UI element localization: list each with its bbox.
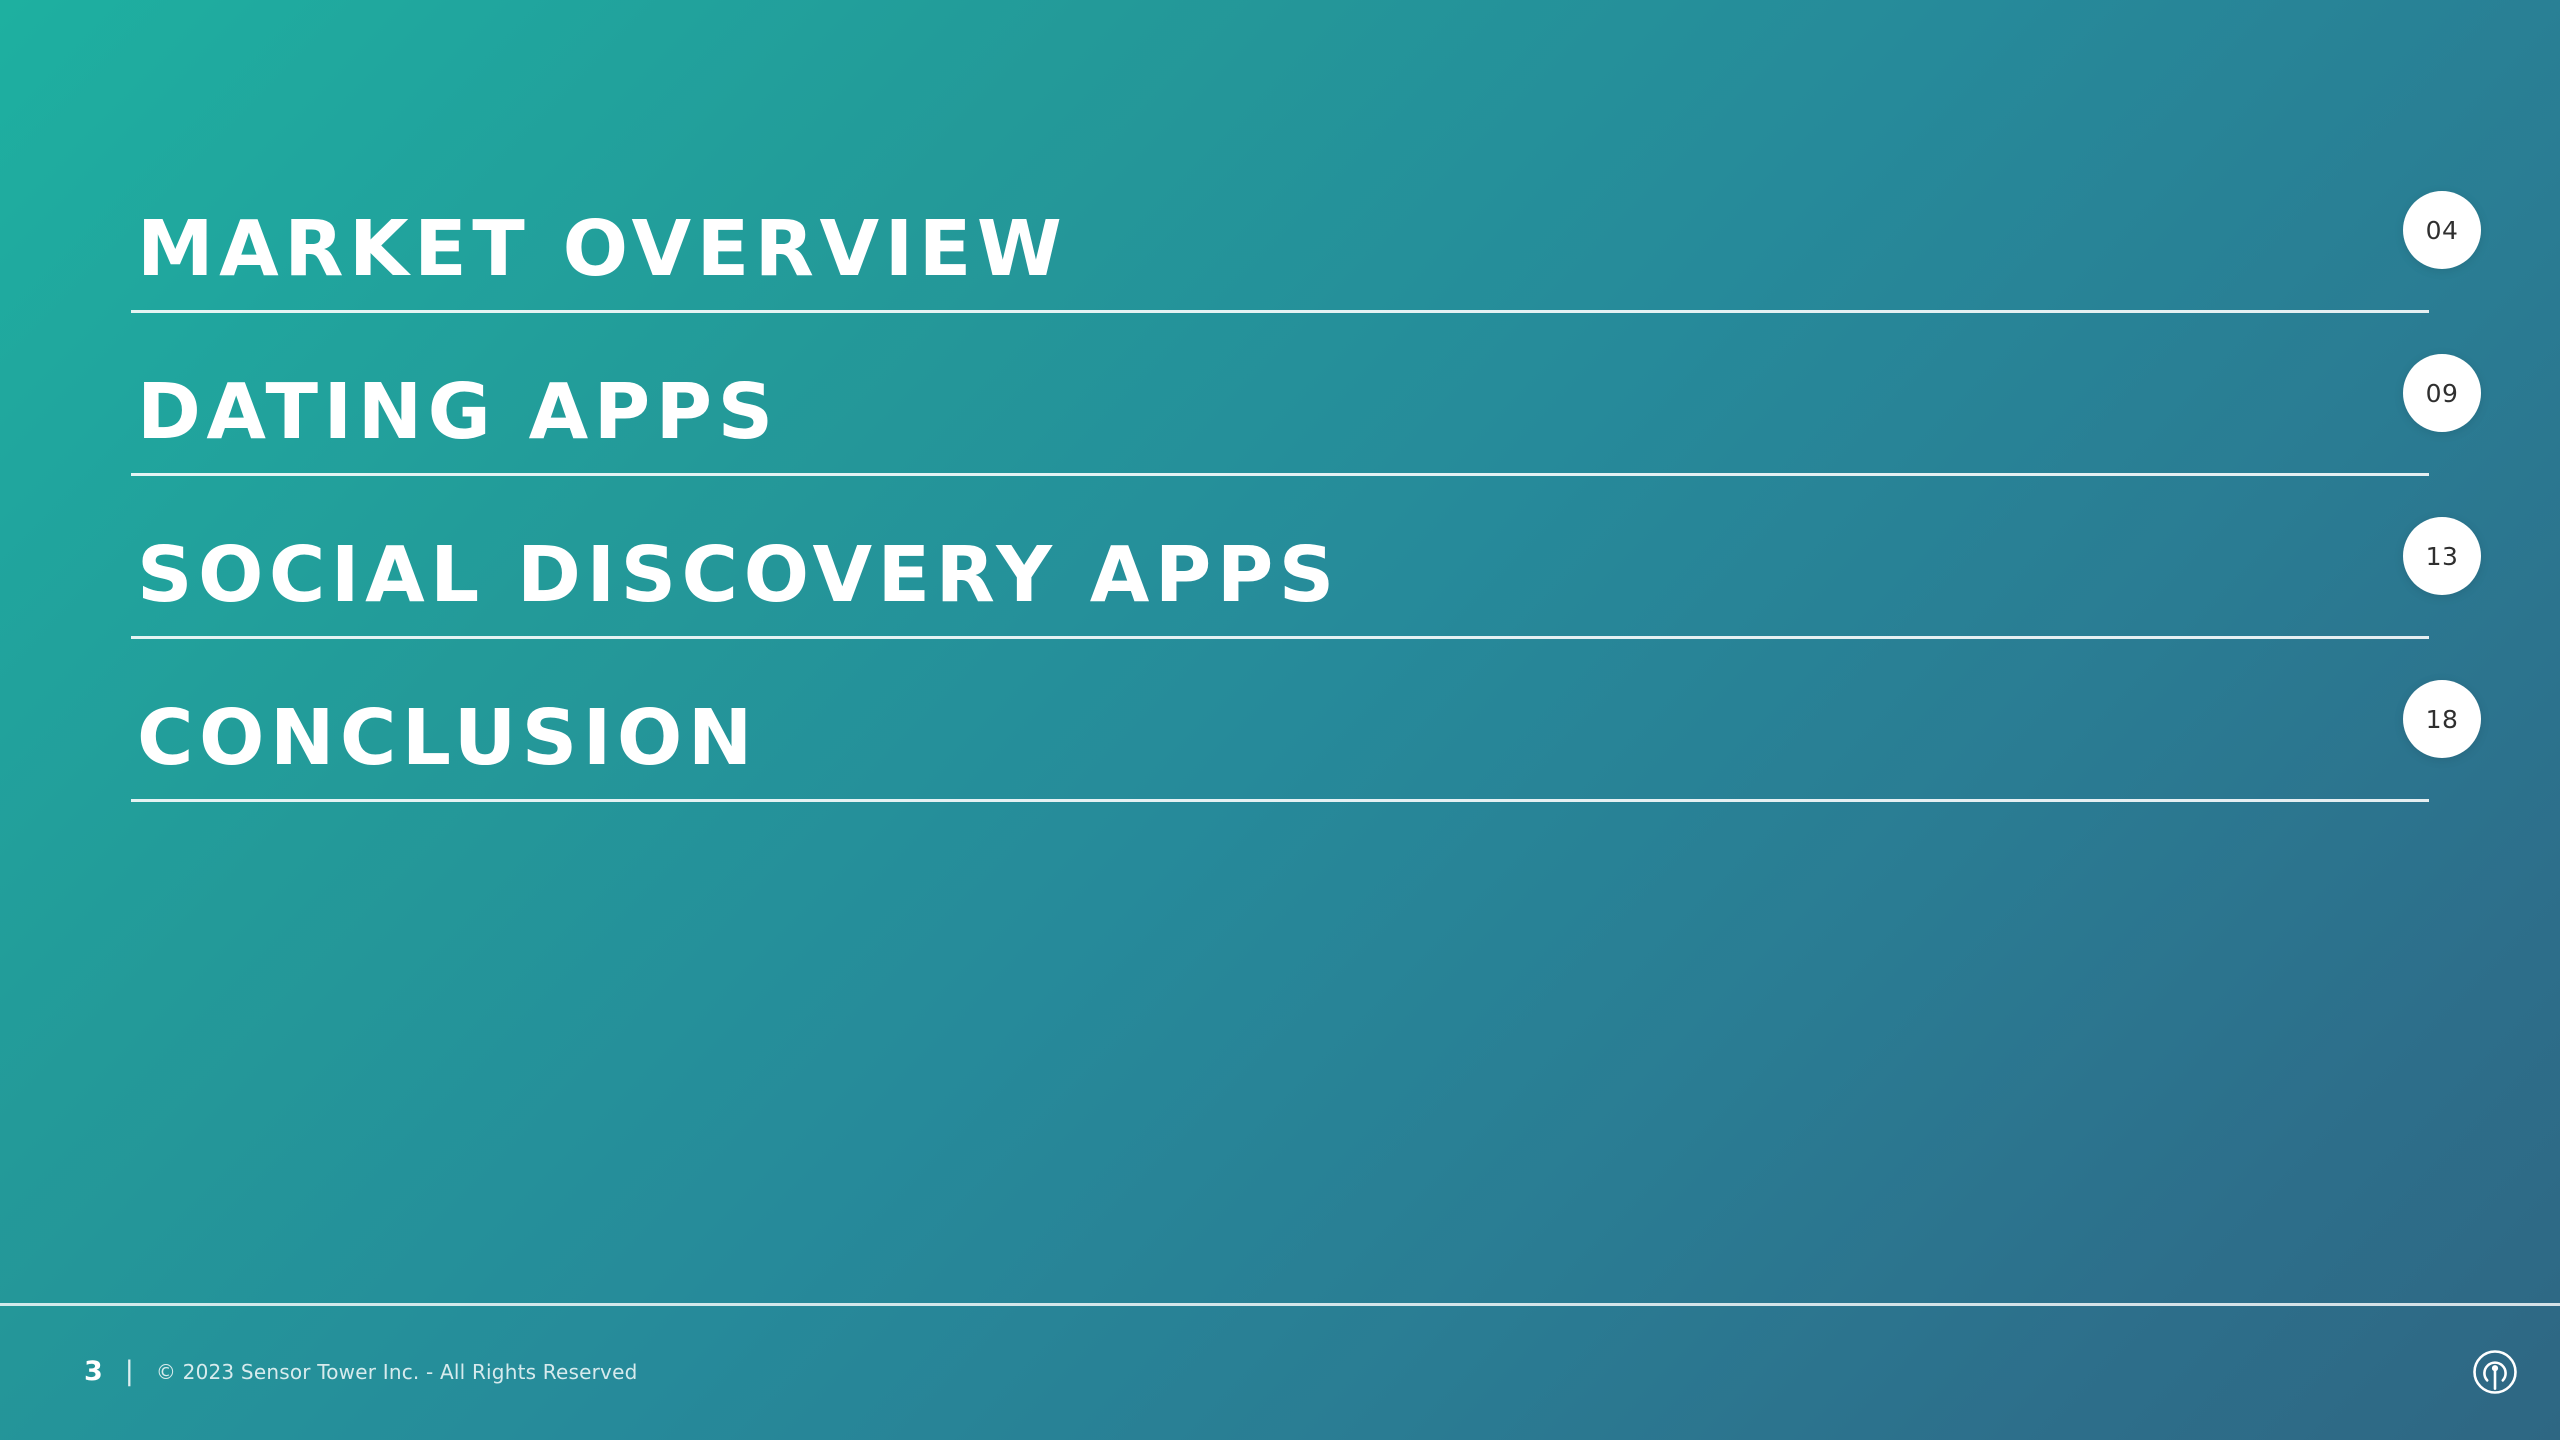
agenda-item-page-badge[interactable]: 09 bbox=[2403, 354, 2481, 432]
agenda-item-title: MARKET OVERVIEW bbox=[137, 211, 1067, 288]
footer-left-group: 3 | © 2023 Sensor Tower Inc. - All Right… bbox=[84, 1358, 637, 1385]
copyright-text: © 2023 Sensor Tower Inc. - All Rights Re… bbox=[156, 1362, 638, 1382]
agenda-item-page-badge[interactable]: 13 bbox=[2403, 517, 2481, 595]
agenda-item-page-badge[interactable]: 04 bbox=[2403, 191, 2481, 269]
presentation-slide: MARKET OVERVIEW 04 DATING APPS 09 SOCIAL… bbox=[0, 0, 2560, 1440]
agenda-item-title: DATING APPS bbox=[137, 374, 779, 451]
agenda-item-dating-apps[interactable]: DATING APPS 09 bbox=[131, 313, 2429, 476]
agenda-item-title: SOCIAL DISCOVERY APPS bbox=[137, 537, 1340, 614]
agenda-item-title: CONCLUSION bbox=[137, 700, 758, 777]
footer-separator: | bbox=[125, 1358, 134, 1385]
slide-footer: 3 | © 2023 Sensor Tower Inc. - All Right… bbox=[0, 1303, 2560, 1440]
sensor-tower-logo-icon bbox=[2468, 1345, 2522, 1399]
agenda-item-conclusion[interactable]: CONCLUSION 18 bbox=[131, 639, 2429, 802]
agenda-item-page-badge[interactable]: 18 bbox=[2403, 680, 2481, 758]
agenda-item-social-discovery-apps[interactable]: SOCIAL DISCOVERY APPS 13 bbox=[131, 476, 2429, 639]
agenda-item-market-overview[interactable]: MARKET OVERVIEW 04 bbox=[131, 150, 2429, 313]
agenda-list: MARKET OVERVIEW 04 DATING APPS 09 SOCIAL… bbox=[131, 150, 2429, 802]
page-number: 3 bbox=[84, 1358, 103, 1385]
